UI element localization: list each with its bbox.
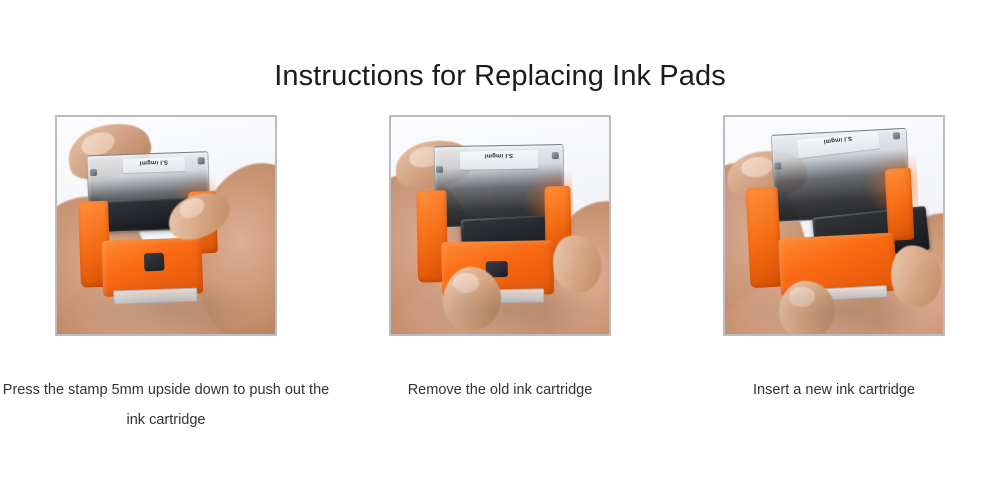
- index-finger-nail: [789, 287, 815, 307]
- stamp-lock-button: [144, 253, 165, 272]
- step-photo-2: S.I imgml: [389, 115, 611, 336]
- cap-clip-left: [90, 169, 97, 176]
- grip-wing-left: [745, 187, 782, 289]
- stamp-base-plate: [113, 288, 197, 305]
- stamp-brand-label: S.I imgml: [460, 150, 538, 169]
- cap-clip-left: [436, 166, 443, 173]
- cap-clip-right: [198, 157, 205, 164]
- step-caption-3: Insert a new ink cartridge: [684, 375, 984, 405]
- grip-wing-right: [885, 168, 915, 241]
- step-panel-1: S.I imgml: [55, 115, 277, 455]
- cap-clip-right: [552, 152, 559, 159]
- step-photo-3: S.I imgml: [723, 115, 945, 336]
- stamp-brand-label: S.I imgml: [123, 157, 185, 173]
- photo-scene-3: S.I imgml: [725, 117, 943, 334]
- photo-scene-1: S.I imgml: [57, 117, 275, 334]
- page-title: Instructions for Replacing Ink Pads: [0, 58, 1000, 94]
- step-caption-2: Remove the old ink cartridge: [350, 375, 650, 405]
- cap-clip-right: [893, 132, 900, 139]
- index-finger-nail: [453, 273, 479, 293]
- stamp-brand-text: S.I imgml: [460, 150, 538, 158]
- instructions-page: Instructions for Replacing Ink Pads S.I …: [0, 0, 1000, 480]
- steps-row: S.I imgml: [0, 115, 1000, 455]
- cap-clip-left: [774, 162, 781, 169]
- step-photo-1: S.I imgml: [55, 115, 277, 336]
- step-caption-1: Press the stamp 5mm upside down to push …: [1, 375, 331, 435]
- step-panel-2: S.I imgml: [389, 115, 611, 455]
- step-panel-3: S.I imgml: [723, 115, 945, 455]
- photo-scene-2: S.I imgml: [391, 117, 609, 334]
- stamp-brand-text: S.I imgml: [123, 157, 185, 166]
